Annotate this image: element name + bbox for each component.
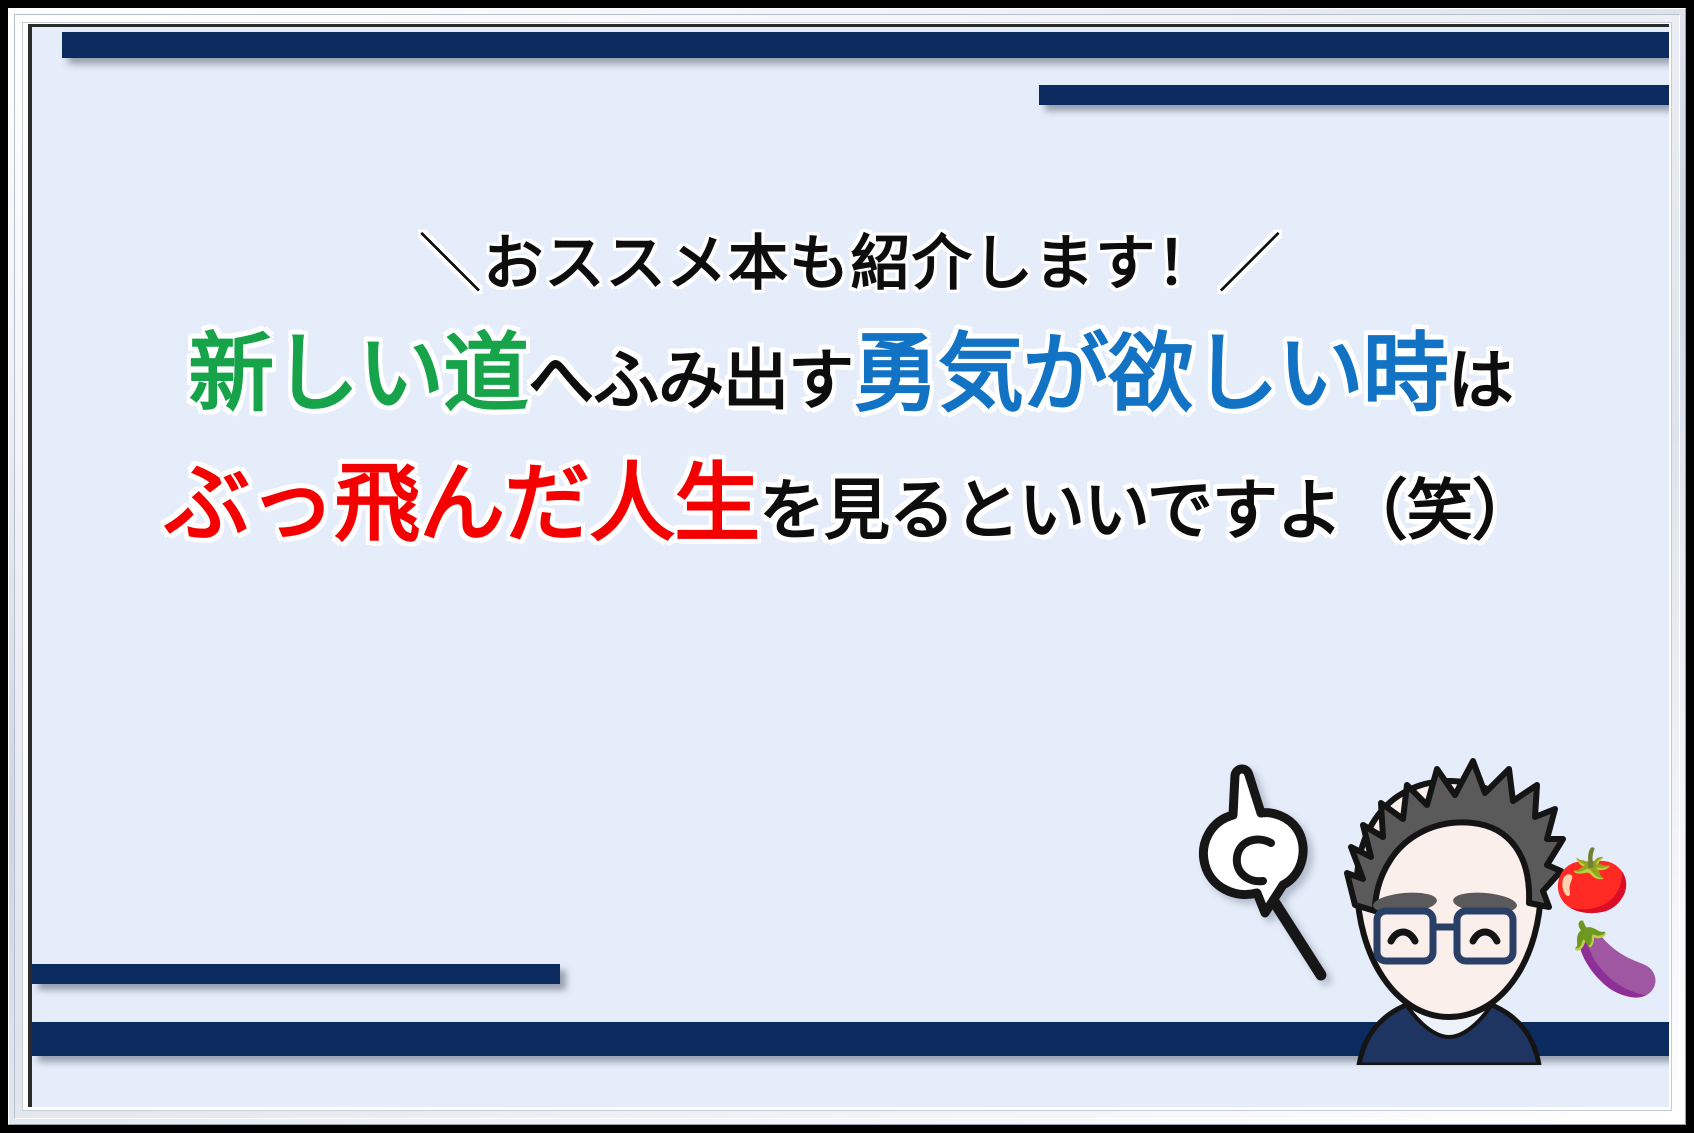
headline-segment-black-b: は	[1448, 342, 1513, 419]
eggplant-icon: 🍆	[1571, 923, 1661, 995]
smiling-eyes	[1391, 932, 1497, 941]
screenshot-canvas: ＼おススメ本も紹介します！／ 新しい道へふみ出す勇気が欲しい時は ぶっ飛んだ人生…	[0, 0, 1694, 1133]
glasses-icon	[1377, 911, 1513, 961]
tomato-icon: 🍅	[1554, 850, 1631, 912]
headline-segment-blue: 勇気が欲しい時	[853, 324, 1448, 424]
top-wide-bar	[62, 32, 1669, 58]
headline-block: ＼おススメ本も紹介します！／ 新しい道へふみ出す勇気が欲しい時は ぶっ飛んだ人生…	[32, 233, 1669, 547]
headline-segment-red: ぶっ飛んだ人生	[164, 454, 759, 554]
hair	[1347, 761, 1563, 911]
bottom-wide-bar	[32, 1022, 1669, 1056]
headline-segment-black-a: へふみ出す	[528, 342, 853, 419]
slash-left-decoration: ＼	[418, 233, 483, 297]
face	[1357, 781, 1541, 1017]
top-short-bar	[1039, 85, 1669, 105]
subheadline-line: ＼おススメ本も紹介します！／	[32, 233, 1669, 297]
bottom-short-bar	[32, 964, 560, 984]
slash-right-decoration: ／	[1218, 233, 1283, 297]
pointing-hand-icon	[1203, 769, 1321, 975]
headline-line-1: 新しい道へふみ出す勇気が欲しい時は	[32, 331, 1669, 417]
eyebrows	[1372, 890, 1517, 916]
headline-line-2: ぶっ飛んだ人生を見るといいですよ（笑）	[32, 461, 1669, 547]
headline-segment-green: 新しい道	[188, 324, 528, 424]
subheadline-text: おススメ本も紹介します！	[483, 229, 1217, 299]
headline-segment-black-c: を見るといいですよ（笑）	[759, 472, 1537, 549]
banner-content-area: ＼おススメ本も紹介します！／ 新しい道へふみ出す勇気が欲しい時は ぶっ飛んだ人生…	[28, 24, 1669, 1107]
